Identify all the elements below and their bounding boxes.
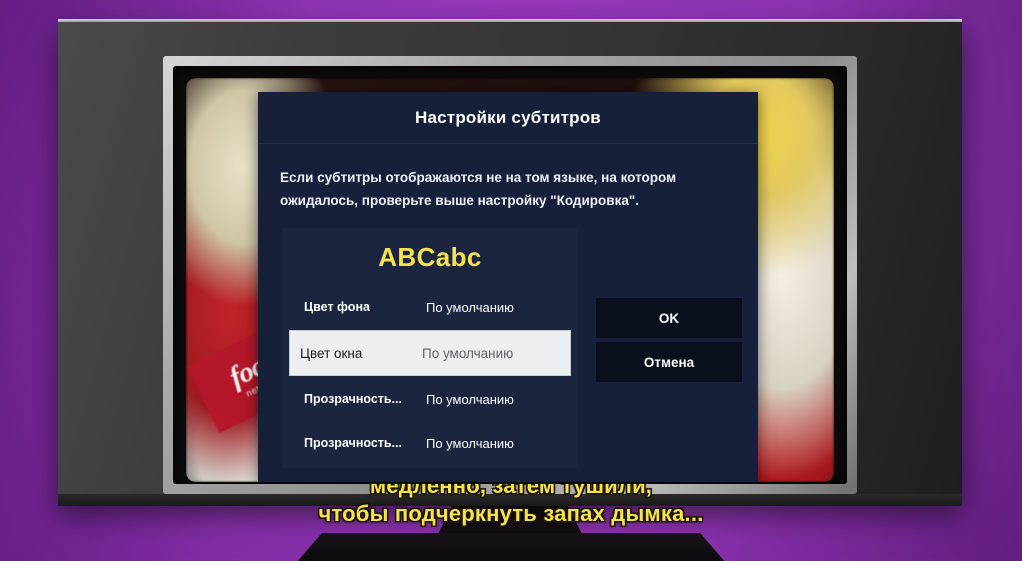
- dialog-body: ABCabc Цвет фона По умолчанию Цвет окна …: [258, 228, 758, 476]
- setting-label: Цвет окна: [300, 346, 422, 361]
- subtitle-preview-text: ABCabc: [282, 236, 578, 283]
- setting-value: По умолчанию: [426, 300, 514, 315]
- setting-row-transparency-1[interactable]: Прозрачность... По умолчанию: [294, 379, 566, 419]
- setting-label: Прозрачность...: [304, 392, 426, 406]
- setting-value: По умолчанию: [422, 346, 513, 361]
- tv-screen: foo netw Настройки субтитров Если субтит…: [186, 78, 834, 482]
- setting-value: По умолчанию: [426, 436, 514, 451]
- setting-label: Прозрачность...: [304, 436, 426, 450]
- setting-row-transparency-2[interactable]: Прозрачность... По умолчанию: [294, 423, 566, 463]
- dialog-title: Настройки субтитров: [258, 92, 758, 144]
- setting-value: По умолчанию: [426, 392, 514, 407]
- setting-label: Цвет фона: [304, 300, 426, 314]
- tv-bottom-bezel-lip: [58, 494, 962, 506]
- dialog-description: Если субтитры отображаются не на том язы…: [258, 144, 758, 212]
- settings-panel: ABCabc Цвет фона По умолчанию Цвет окна …: [282, 228, 578, 468]
- setting-row-background-color[interactable]: Цвет фона По умолчанию: [294, 287, 566, 327]
- tv-room-scene: foo netw Настройки субтитров Если субтит…: [0, 0, 1022, 561]
- setting-row-window-color[interactable]: Цвет окна По умолчанию: [290, 331, 570, 375]
- tv-stand-base: [296, 533, 726, 561]
- cancel-button[interactable]: Отмена: [596, 342, 742, 382]
- subtitle-settings-dialog: Настройки субтитров Если субтитры отобра…: [258, 92, 758, 482]
- ok-button[interactable]: OK: [596, 298, 742, 338]
- dialog-button-column: OK Отмена: [596, 298, 742, 386]
